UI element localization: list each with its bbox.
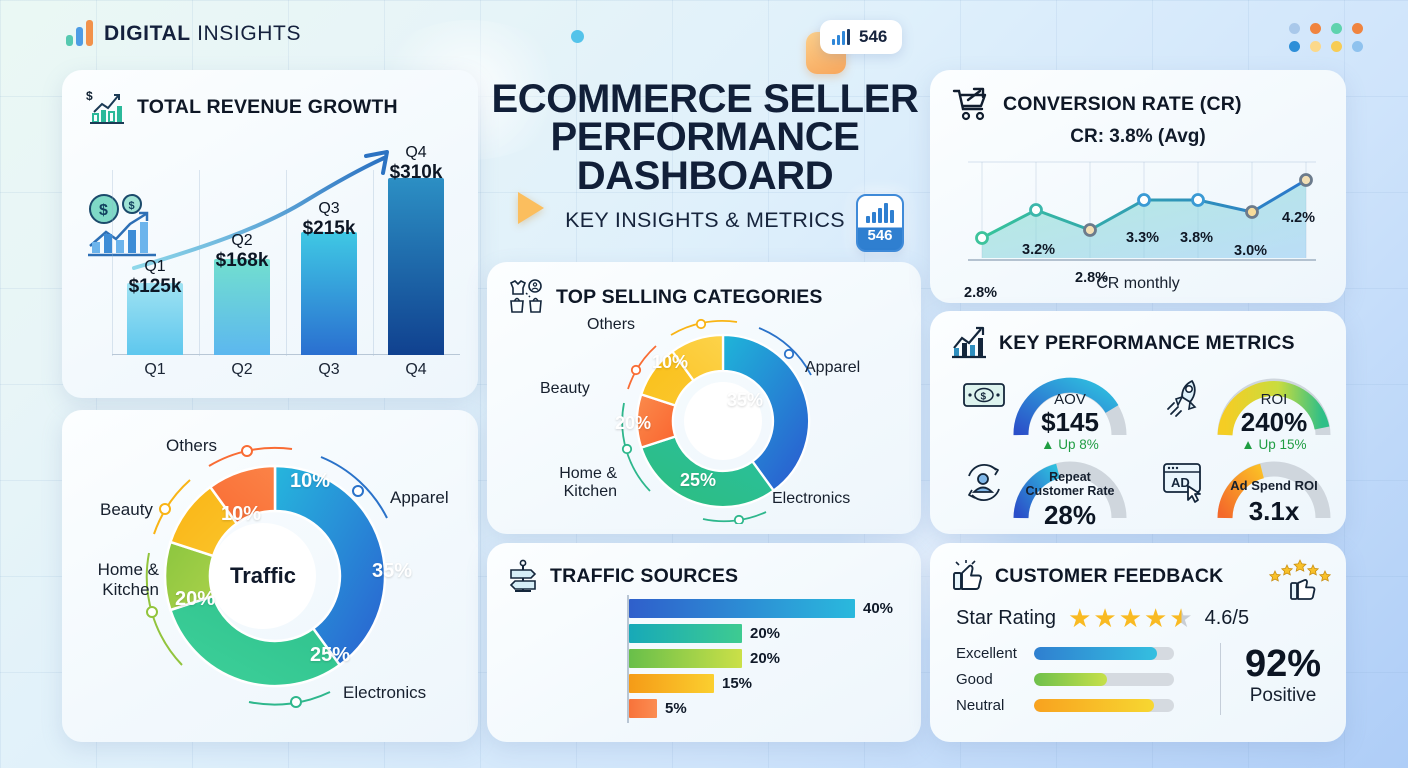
conversion-rate-card: CONVERSION RATE (CR) CR: 3.8% (Avg) 2.8%… xyxy=(930,70,1346,303)
page-header: DIGITAL INSIGHTS 546 xyxy=(0,0,1408,72)
donut-label-electronics: Electronics xyxy=(772,490,850,508)
feedback-progress-track xyxy=(1034,647,1174,660)
kpi-value: 3.1x xyxy=(1215,496,1333,527)
card-header: TOP SELLING CATEGORIES xyxy=(507,279,823,315)
cr-average-label: CR: 3.8% (Avg) xyxy=(930,126,1346,148)
feedback-progress-track xyxy=(1034,699,1174,712)
source-value: 20% xyxy=(750,650,780,667)
traffic-sources-card: TRAFFIC SOURCES Social Media 40% Direct … xyxy=(487,543,921,742)
kpi-value: $145 xyxy=(1011,407,1129,438)
revenue-growth-icon: $ xyxy=(84,88,126,126)
divider xyxy=(1220,643,1221,715)
total-revenue-growth-card: $ TOTAL REVENUE GROWTH $ $ xyxy=(62,70,478,398)
revenue-bar-value: Q3 $215k xyxy=(274,200,384,239)
positive-percent: 92% xyxy=(1230,645,1336,683)
badge-pill: 546 xyxy=(820,20,902,54)
revenue-bar-category: Q3 xyxy=(274,200,384,218)
donut-percent: 25% xyxy=(680,470,716,491)
source-value: 15% xyxy=(722,675,752,692)
hero-badge-value: 546 xyxy=(867,227,892,244)
revenue-axis-label: Q4 xyxy=(376,361,456,379)
source-value: 5% xyxy=(665,700,687,717)
card-title-text: CUSTOMER FEEDBACK xyxy=(995,565,1223,588)
thumbs-up-stars-icon xyxy=(1268,557,1332,601)
cr-axis-label: CR monthly xyxy=(930,275,1346,293)
repeat-user-icon xyxy=(962,462,1006,504)
donut-label-others: Others xyxy=(587,316,635,334)
brand: DIGITAL INSIGHTS xyxy=(66,22,301,46)
page-title-line-1: ECOMMERCE SELLER xyxy=(492,77,919,121)
star-rating-stars: ★ ★ ★ ★ ★ xyxy=(1068,605,1193,631)
kpi-repeat-customer-rate: RepeatCustomer Rate 28% xyxy=(962,456,1137,526)
donut-label-apparel: Apparel xyxy=(390,488,449,508)
feedback-progress-fill xyxy=(1034,673,1107,686)
kpi-roi: ROI 240% ▲ Up 15% xyxy=(1166,369,1341,447)
donut-label-beauty: Beauty xyxy=(100,500,153,520)
page-title: ECOMMERCE SELLER PERFORMANCE DASHBOARD xyxy=(488,80,922,195)
feedback-row: Excellent xyxy=(956,645,1174,662)
kpi-label: ROI xyxy=(1215,391,1333,408)
signpost-icon xyxy=(507,559,539,593)
card-title-text: TOP SELLING CATEGORIES xyxy=(556,286,823,309)
brand-name: DIGITAL INSIGHTS xyxy=(104,22,301,46)
feedback-row-name: Good xyxy=(956,671,1034,688)
donut-label-electronics: Electronics xyxy=(343,683,426,703)
star-rating-row: Star Rating ★ ★ ★ ★ ★ 4.6/5 xyxy=(956,605,1249,631)
donut-percent: 20% xyxy=(615,413,651,434)
cash-icon: $ xyxy=(962,377,1006,417)
donut-label-home-kitchen: Home &Kitchen xyxy=(542,465,617,502)
bar-chart-logo-icon xyxy=(66,22,93,46)
source-bar xyxy=(629,674,714,693)
shopping-cart-icon xyxy=(952,87,992,121)
traffic-sources-bar-chart: Social Media 40% Direct 20% Organic Sear… xyxy=(487,595,921,735)
hero-stat-badge: 546 xyxy=(856,194,904,252)
traffic-donut-card: Traffic 35% 25% 20% 10% 10% Apparel Elec… xyxy=(62,410,478,742)
card-header: TRAFFIC SOURCES xyxy=(507,559,738,593)
source-bar xyxy=(629,649,742,668)
decorative-dot xyxy=(1310,23,1321,34)
star-icon: ★ xyxy=(1144,605,1167,631)
kpi-label: Ad Spend ROI xyxy=(1215,478,1333,493)
revenue-axis-label: Q2 xyxy=(202,361,282,379)
svg-text:$: $ xyxy=(981,392,987,403)
feedback-progress-fill xyxy=(1034,647,1157,660)
kpi-delta: ▲ Up 15% xyxy=(1215,437,1333,452)
donut-percent: 25% xyxy=(310,644,350,667)
decorative-dot xyxy=(1352,41,1363,52)
star-half-icon: ★ xyxy=(1169,605,1192,631)
brand-name-bold: DIGITAL xyxy=(104,22,191,45)
growth-chart-icon xyxy=(950,326,988,360)
star-icon: ★ xyxy=(1119,605,1142,631)
decorative-dot xyxy=(1289,23,1300,34)
revenue-bar-amount: $215k xyxy=(274,218,384,239)
revenue-bar-amount: $125k xyxy=(100,276,210,297)
donut-percent: 10% xyxy=(290,470,330,493)
page-title-line-3: DASHBOARD xyxy=(577,154,833,198)
donut-percent: 10% xyxy=(652,352,688,373)
donut-label-others: Others xyxy=(166,436,217,456)
revenue-axis-label: Q1 xyxy=(115,361,195,379)
source-bar xyxy=(629,699,657,718)
revenue-bar xyxy=(301,232,357,355)
decorative-dot xyxy=(1310,41,1321,52)
source-bar xyxy=(629,624,742,643)
page-title-line-2: PERFORMANCE xyxy=(551,115,860,159)
source-value: 20% xyxy=(750,625,780,642)
card-header: CUSTOMER FEEDBACK xyxy=(950,559,1223,593)
svg-text:$: $ xyxy=(86,89,93,103)
revenue-bar-chart: Q1 $125k Q2 $168k Q3 $215k Q4 $310k Q1 Q… xyxy=(82,148,458,383)
cr-point-label: 3.2% xyxy=(1022,242,1055,258)
kpi-value: 28% xyxy=(1011,500,1129,531)
shopping-categories-icon xyxy=(507,279,545,315)
decorative-dot xyxy=(1331,41,1342,52)
star-rating-label: Star Rating xyxy=(956,607,1056,630)
svg-text:AD: AD xyxy=(1171,475,1190,490)
brand-name-light: INSIGHTS xyxy=(191,22,301,45)
card-title-text: TRAFFIC SOURCES xyxy=(550,565,738,588)
revenue-bar xyxy=(388,178,444,355)
source-value: 40% xyxy=(863,600,893,617)
kpi-delta: ▲ Up 8% xyxy=(1011,437,1129,452)
decorative-dot-grid xyxy=(1289,23,1373,59)
revenue-bar-category: Q4 xyxy=(361,144,471,162)
card-header: $ TOTAL REVENUE GROWTH xyxy=(84,88,398,126)
feedback-progress-track xyxy=(1034,673,1174,686)
star-rating-score: 4.6/5 xyxy=(1205,607,1249,630)
card-header: CONVERSION RATE (CR) xyxy=(952,87,1242,121)
feedback-row: Neutral xyxy=(956,697,1174,714)
revenue-bar-amount: $310k xyxy=(361,162,471,183)
cr-point-label: 3.8% xyxy=(1180,230,1213,246)
cr-point-label: 3.3% xyxy=(1126,230,1159,246)
revenue-bar xyxy=(214,259,270,355)
donut-percent: 10% xyxy=(221,503,261,526)
revenue-bar-value: Q4 $310k xyxy=(361,144,471,183)
decorative-dot xyxy=(1331,23,1342,34)
ad-window-icon: AD xyxy=(1160,460,1208,504)
positive-label: Positive xyxy=(1230,685,1336,707)
decorative-dot xyxy=(1352,23,1363,34)
donut-center-label: Traffic xyxy=(230,563,296,589)
donut-percent: 35% xyxy=(372,560,412,583)
revenue-bar-amount: $168k xyxy=(187,250,297,271)
kpi-aov: $ AOV $145 ▲ Up 8% xyxy=(962,369,1137,447)
feedback-progress-fill xyxy=(1034,699,1154,712)
feedback-row: Good xyxy=(956,671,1174,688)
donut-center: Traffic xyxy=(210,523,316,629)
decorative-dot-icon xyxy=(571,30,584,43)
customer-feedback-card: CUSTOMER FEEDBACK Star Rating ★ ★ ★ ★ ★ … xyxy=(930,543,1346,742)
thumbs-up-icon xyxy=(950,559,984,593)
donut-percent: 35% xyxy=(727,390,763,411)
card-title-text: KEY PERFORMANCE METRICS xyxy=(999,332,1295,355)
key-performance-metrics-card: KEY PERFORMANCE METRICS $ AOV $145 ▲ Up … xyxy=(930,311,1346,534)
donut-label-home-kitchen: Home &Kitchen xyxy=(74,560,159,599)
kpi-label: RepeatCustomer Rate xyxy=(1011,470,1129,499)
star-icon: ★ xyxy=(1068,605,1091,631)
donut-label-beauty: Beauty xyxy=(540,380,590,398)
star-icon: ★ xyxy=(1093,605,1116,631)
cr-point-label: 3.0% xyxy=(1234,243,1267,259)
donut-label-apparel: Apparel xyxy=(805,359,860,377)
kpi-value: 240% xyxy=(1215,407,1333,438)
card-title-text: CONVERSION RATE (CR) xyxy=(1003,93,1242,116)
rocket-icon xyxy=(1162,375,1206,419)
card-header: KEY PERFORMANCE METRICS xyxy=(950,326,1295,360)
bar-chart-icon xyxy=(866,203,894,223)
cr-point-label: 4.2% xyxy=(1282,210,1315,226)
card-title-text: TOTAL REVENUE GROWTH xyxy=(137,96,398,119)
badge-value: 546 xyxy=(859,27,887,47)
feedback-row-name: Neutral xyxy=(956,697,1034,714)
donut-percent: 20% xyxy=(175,588,215,611)
top-selling-categories-card: TOP SELLING CATEGORIES 3 xyxy=(487,262,921,534)
source-bar xyxy=(629,599,855,618)
kpi-ad-spend-roi: AD Ad Spend ROI 3.1x xyxy=(1166,456,1341,526)
kpi-label: AOV xyxy=(1011,391,1129,408)
feedback-row-name: Excellent xyxy=(956,645,1034,662)
revenue-axis-label: Q3 xyxy=(289,361,369,379)
bar-chart-icon xyxy=(832,29,850,45)
positive-sentiment: 92% Positive xyxy=(1230,645,1336,707)
decorative-dot xyxy=(1289,41,1300,52)
play-triangle-icon xyxy=(518,192,544,224)
